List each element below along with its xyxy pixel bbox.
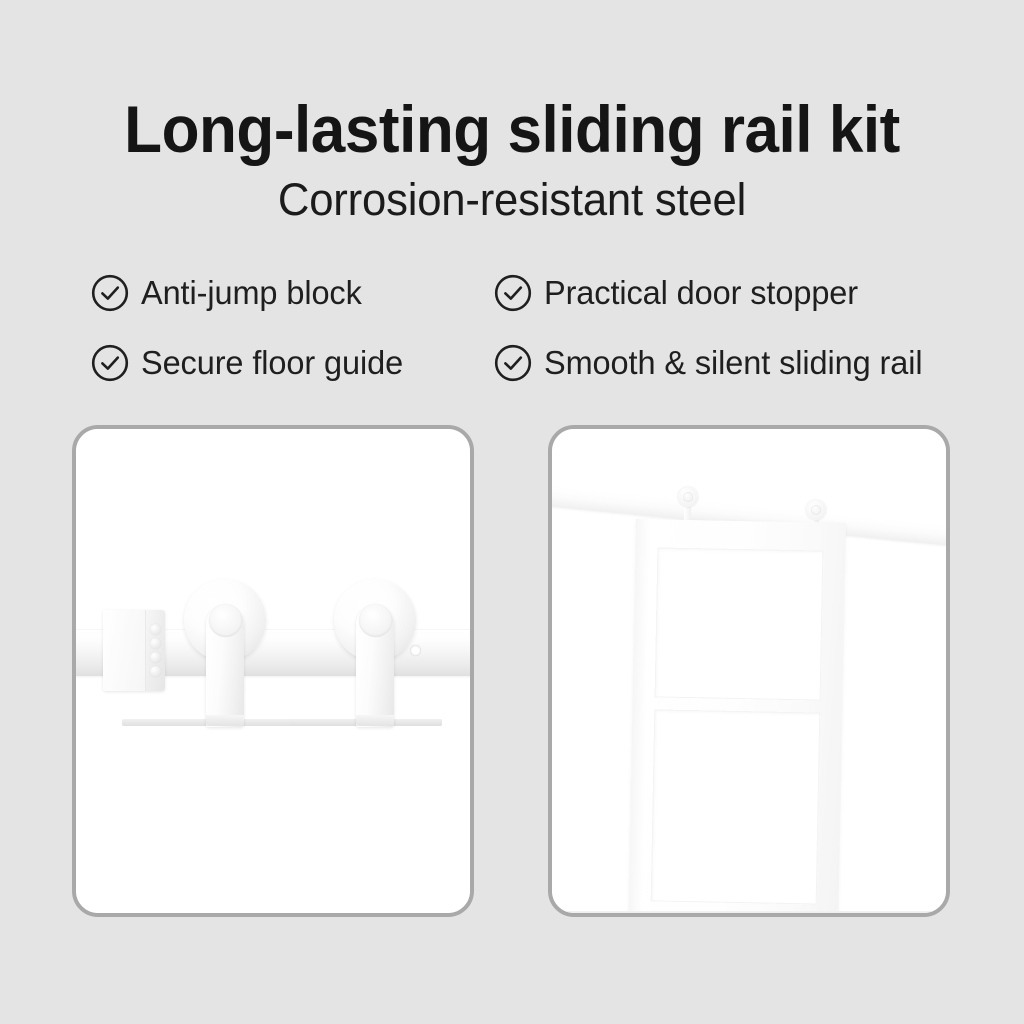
hanger-bolt-inner [683, 492, 693, 502]
photo-stage [552, 429, 946, 913]
door-lower-panel [651, 709, 821, 904]
feature-row: Secure floor guide Smooth & silent slidi… [90, 328, 970, 398]
check-circle-icon [90, 273, 130, 313]
stopper-face [103, 610, 146, 691]
hanger-bolt-left [678, 487, 698, 507]
hanger-strap-foot [356, 715, 394, 726]
photo-stage [76, 429, 470, 913]
product-photo-panel-installed-door [548, 425, 950, 917]
door-upper-panel [655, 547, 824, 700]
page-title: Long-lasting sliding rail kit [31, 92, 994, 166]
hanger-bolt-right [806, 500, 826, 520]
floor-line [548, 911, 950, 915]
page-subtitle: Corrosion-resistant steel [15, 172, 1008, 228]
feature-item-smooth-silent-sliding-rail: Smooth & silent sliding rail [493, 343, 963, 383]
feature-item-secure-floor-guide: Secure floor guide [90, 343, 493, 383]
feature-label: Smooth & silent sliding rail [544, 343, 922, 383]
check-circle-icon [493, 273, 533, 313]
feature-label: Secure floor guide [141, 343, 403, 383]
hanger-bolt-inner [811, 505, 821, 515]
roller-hub [359, 604, 392, 637]
product-photo-panel-hardware [72, 425, 474, 917]
feature-item-anti-jump-block: Anti-jump block [90, 273, 493, 313]
check-circle-icon [90, 343, 130, 383]
stopper-bumps [150, 624, 162, 678]
feature-label: Practical door stopper [544, 273, 858, 313]
check-circle-icon [493, 343, 533, 383]
rail-mounting-hole [410, 645, 421, 656]
roller-hub [209, 604, 242, 637]
door-slab [628, 519, 846, 917]
hanger-strap-foot [206, 715, 244, 726]
feature-row: Anti-jump block Practical door stopper [90, 258, 970, 328]
feature-label: Anti-jump block [141, 273, 362, 313]
feature-list: Anti-jump block Practical door stopper S… [90, 258, 970, 398]
feature-item-practical-door-stopper: Practical door stopper [493, 273, 963, 313]
